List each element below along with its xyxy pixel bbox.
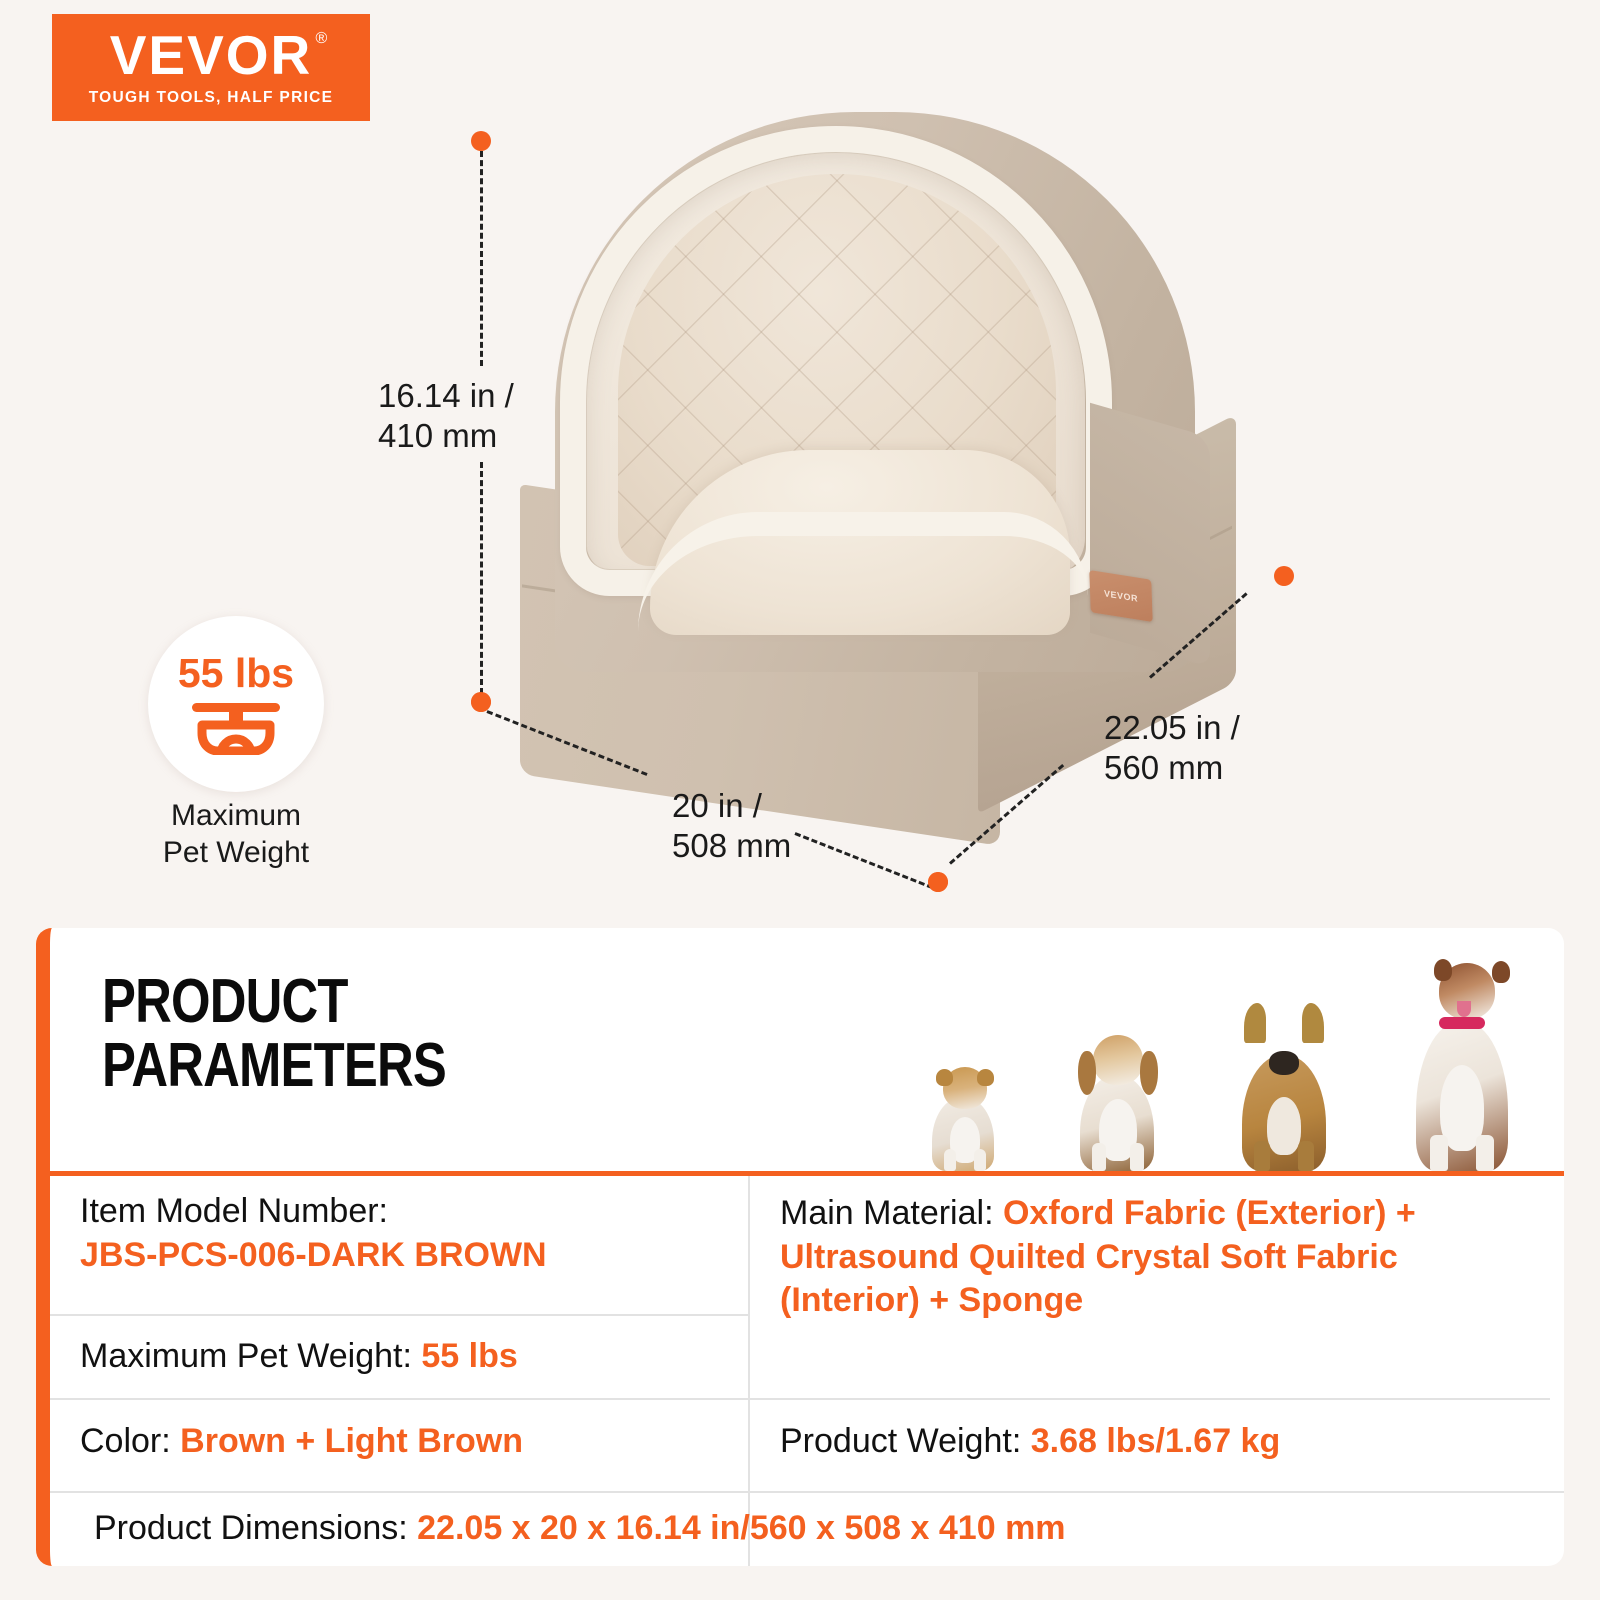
- dog-ear-left: [1244, 1003, 1266, 1043]
- max-pet-weight-badge: 55 lbs: [148, 616, 324, 792]
- dog-chest: [1267, 1097, 1301, 1155]
- dim-label-depth: 22.05 in / 560 mm: [1104, 708, 1240, 789]
- dog-ear-right: [1140, 1051, 1158, 1095]
- dog-leg-left: [1430, 1135, 1448, 1171]
- dog-leg-right: [1298, 1141, 1314, 1171]
- row-color-value: Brown + Light Brown: [180, 1420, 523, 1464]
- row-color-key: Color:: [80, 1420, 171, 1464]
- row-main-material-key: Main Material:: [780, 1194, 994, 1232]
- dog-leg-right: [1476, 1135, 1494, 1171]
- card-header: PRODUCT PARAMETERS: [50, 928, 1564, 1176]
- product-parameters-card: PRODUCT PARAMETERS: [36, 928, 1564, 1566]
- weight-scale-icon: [188, 701, 284, 755]
- dog-head: [1093, 1035, 1143, 1085]
- dog-leg-left: [944, 1149, 956, 1171]
- row-maximum-pet-weight-key: Maximum Pet Weight:: [80, 1335, 412, 1379]
- hero-product-section: VEVOR 16.14 in / 410 mm 20 in / 508 mm 2…: [0, 0, 1600, 915]
- row-product-dimensions: Product Dimensions: 22.05 x 20 x 16.14 i…: [50, 1491, 1564, 1566]
- dog-french-bulldog: [1228, 1003, 1340, 1171]
- dim-dot-height-top: [471, 131, 491, 151]
- dog-leg-left: [1254, 1141, 1270, 1171]
- row-item-model-number-key: Item Model Number:: [80, 1192, 388, 1230]
- max-pet-weight-caption: Maximum Pet Weight: [118, 798, 354, 871]
- row-item-model-number: Item Model Number: JBS-PCS-006-DARK BROW…: [50, 1176, 748, 1316]
- row-product-weight: Product Weight: 3.68 lbs/1.67 kg: [750, 1400, 1550, 1484]
- dog-leg-right: [1130, 1143, 1144, 1171]
- dim-dot-depth-near: [928, 872, 948, 892]
- row-item-model-number-value: JBS-PCS-006-DARK BROWN: [80, 1236, 547, 1274]
- row-main-material: Main Material: Oxford Fabric (Exterior) …: [750, 1176, 1550, 1400]
- dog-leg-left: [1092, 1143, 1106, 1171]
- row-product-dimensions-key: Product Dimensions:: [94, 1509, 408, 1547]
- dog-collar: [1439, 1017, 1485, 1029]
- dim-dot-width-left: [471, 692, 491, 712]
- dog-ear-left: [1078, 1051, 1096, 1095]
- max-pet-weight-value: 55 lbs: [178, 653, 294, 694]
- row-product-dimensions-value: 22.05 x 20 x 16.14 in/560 x 508 x 410 mm: [417, 1509, 1065, 1547]
- dog-ear-right: [1302, 1003, 1324, 1043]
- dog-leg-right: [974, 1149, 986, 1171]
- dog-size-illustrations: [922, 941, 1524, 1171]
- row-product-weight-key: Product Weight:: [780, 1420, 1021, 1464]
- vevor-leather-tag-label: VEVOR: [1104, 588, 1138, 603]
- dim-line-height-upper: [480, 151, 483, 366]
- row-maximum-pet-weight: Maximum Pet Weight: 55 lbs: [50, 1316, 748, 1400]
- card-title: PRODUCT PARAMETERS: [102, 970, 446, 1098]
- dim-label-height: 16.14 in / 410 mm: [378, 376, 514, 457]
- dog-ear-right: [977, 1069, 994, 1086]
- dog-muzzle: [1269, 1051, 1299, 1075]
- dim-line-height-lower: [480, 462, 483, 694]
- dog-ear-right: [1492, 961, 1510, 983]
- seat-pad-trim: [638, 512, 1088, 632]
- dog-jack-russell-terrier: [922, 1067, 1008, 1171]
- dog-pit-bull-terrier: [1400, 959, 1524, 1171]
- row-product-weight-value: 3.68 lbs/1.67 kg: [1031, 1420, 1281, 1464]
- dim-label-front-width: 20 in / 508 mm: [672, 786, 791, 867]
- dim-dot-depth-far: [1274, 566, 1294, 586]
- shell-front-notch: [1090, 403, 1210, 667]
- row-color: Color: Brown + Light Brown: [50, 1400, 748, 1484]
- dog-beagle: [1068, 1035, 1168, 1171]
- dog-ear-left: [936, 1069, 953, 1086]
- row-maximum-pet-weight-value: 55 lbs: [421, 1335, 517, 1379]
- dog-tongue: [1457, 1001, 1471, 1017]
- dog-ear-left: [1434, 959, 1452, 981]
